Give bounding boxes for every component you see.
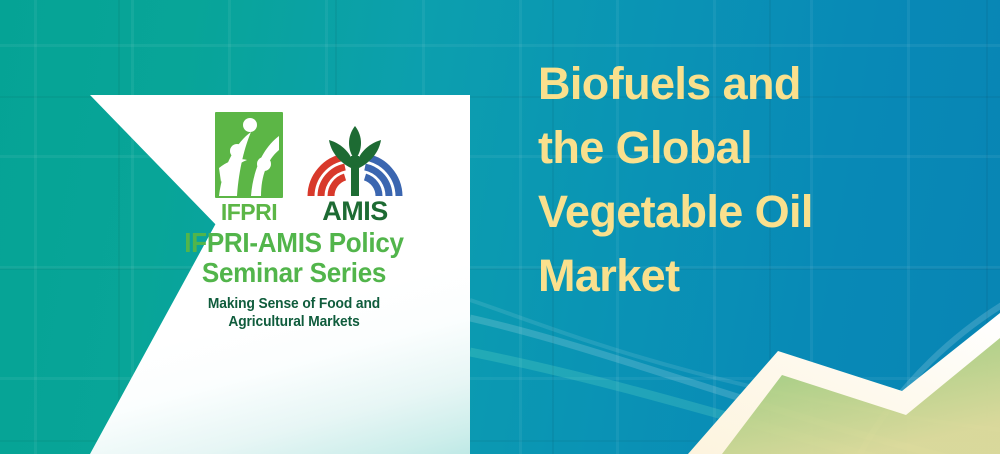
title-line-2: the Global bbox=[538, 116, 978, 180]
series-title-line1: IFPRI-AMIS Policy bbox=[184, 227, 404, 258]
title-line-3: Vegetable Oil bbox=[538, 180, 978, 244]
ifpri-logo: IFPRI bbox=[211, 112, 287, 224]
svg-text:AMIS: AMIS bbox=[322, 196, 388, 224]
page-title: Biofuels and the Global Vegetable Oil Ma… bbox=[538, 52, 978, 308]
series-title-line2: Seminar Series bbox=[202, 257, 386, 288]
title-line-4: Market bbox=[538, 244, 978, 308]
series-subtitle-line2: Agricultural Markets bbox=[228, 314, 359, 330]
brand-text: IFPRI-AMIS Policy Seminar Series Making … bbox=[90, 228, 470, 332]
series-title: IFPRI-AMIS Policy Seminar Series bbox=[141, 228, 446, 287]
amis-logo: AMIS bbox=[305, 112, 405, 224]
series-subtitle-line1: Making Sense of Food and bbox=[208, 296, 380, 312]
seminar-banner: IFPRI AMIS bbox=[0, 0, 1000, 454]
series-subtitle: Making Sense of Food and Agricultural Ma… bbox=[138, 296, 450, 332]
logo-row: IFPRI AMIS bbox=[90, 112, 470, 224]
svg-text:IFPRI: IFPRI bbox=[221, 199, 277, 224]
title-line-1: Biofuels and bbox=[538, 52, 978, 116]
